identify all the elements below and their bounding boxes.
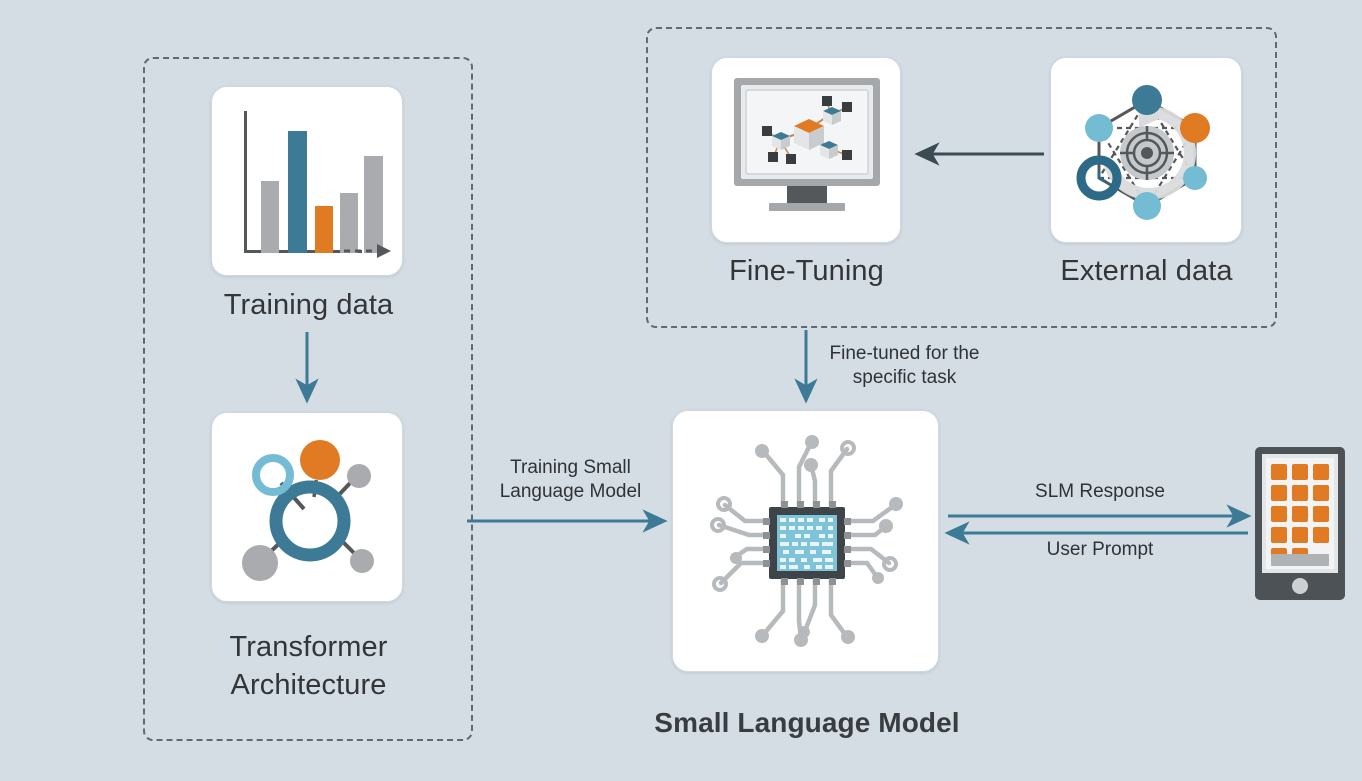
card-training-data[interactable]: [211, 86, 403, 276]
card-transformer-architecture[interactable]: [211, 412, 403, 602]
card-fine-tuning[interactable]: [711, 57, 901, 243]
card-external-data[interactable]: [1050, 57, 1242, 243]
edge-label-training-slm: Training Small Language Model: [473, 456, 668, 505]
label-external-data: External data: [1020, 252, 1273, 290]
cpu-chip-icon: [687, 425, 926, 659]
monitor-network-icon: [724, 74, 890, 228]
diagram-canvas: Training data Transformer Architecture: [0, 0, 1362, 781]
label-fine-tuning: Fine-Tuning: [690, 252, 923, 290]
edge-label-fine-tuned: Fine-tuned for the specific task: [807, 342, 1002, 391]
label-small-language-model: Small Language Model: [612, 705, 1002, 742]
label-transformer-architecture: Transformer Architecture: [151, 628, 466, 705]
network-graph-icon: [226, 425, 390, 591]
smartphone-icon[interactable]: [1255, 447, 1345, 600]
card-small-language-model[interactable]: [672, 410, 939, 672]
edge-label-user-prompt: User Prompt: [975, 538, 1225, 562]
bar-chart-icon: [244, 111, 372, 253]
hexagon-network-icon: [1065, 70, 1229, 232]
edge-label-slm-response: SLM Response: [975, 480, 1225, 504]
label-training-data: Training data: [151, 286, 466, 324]
